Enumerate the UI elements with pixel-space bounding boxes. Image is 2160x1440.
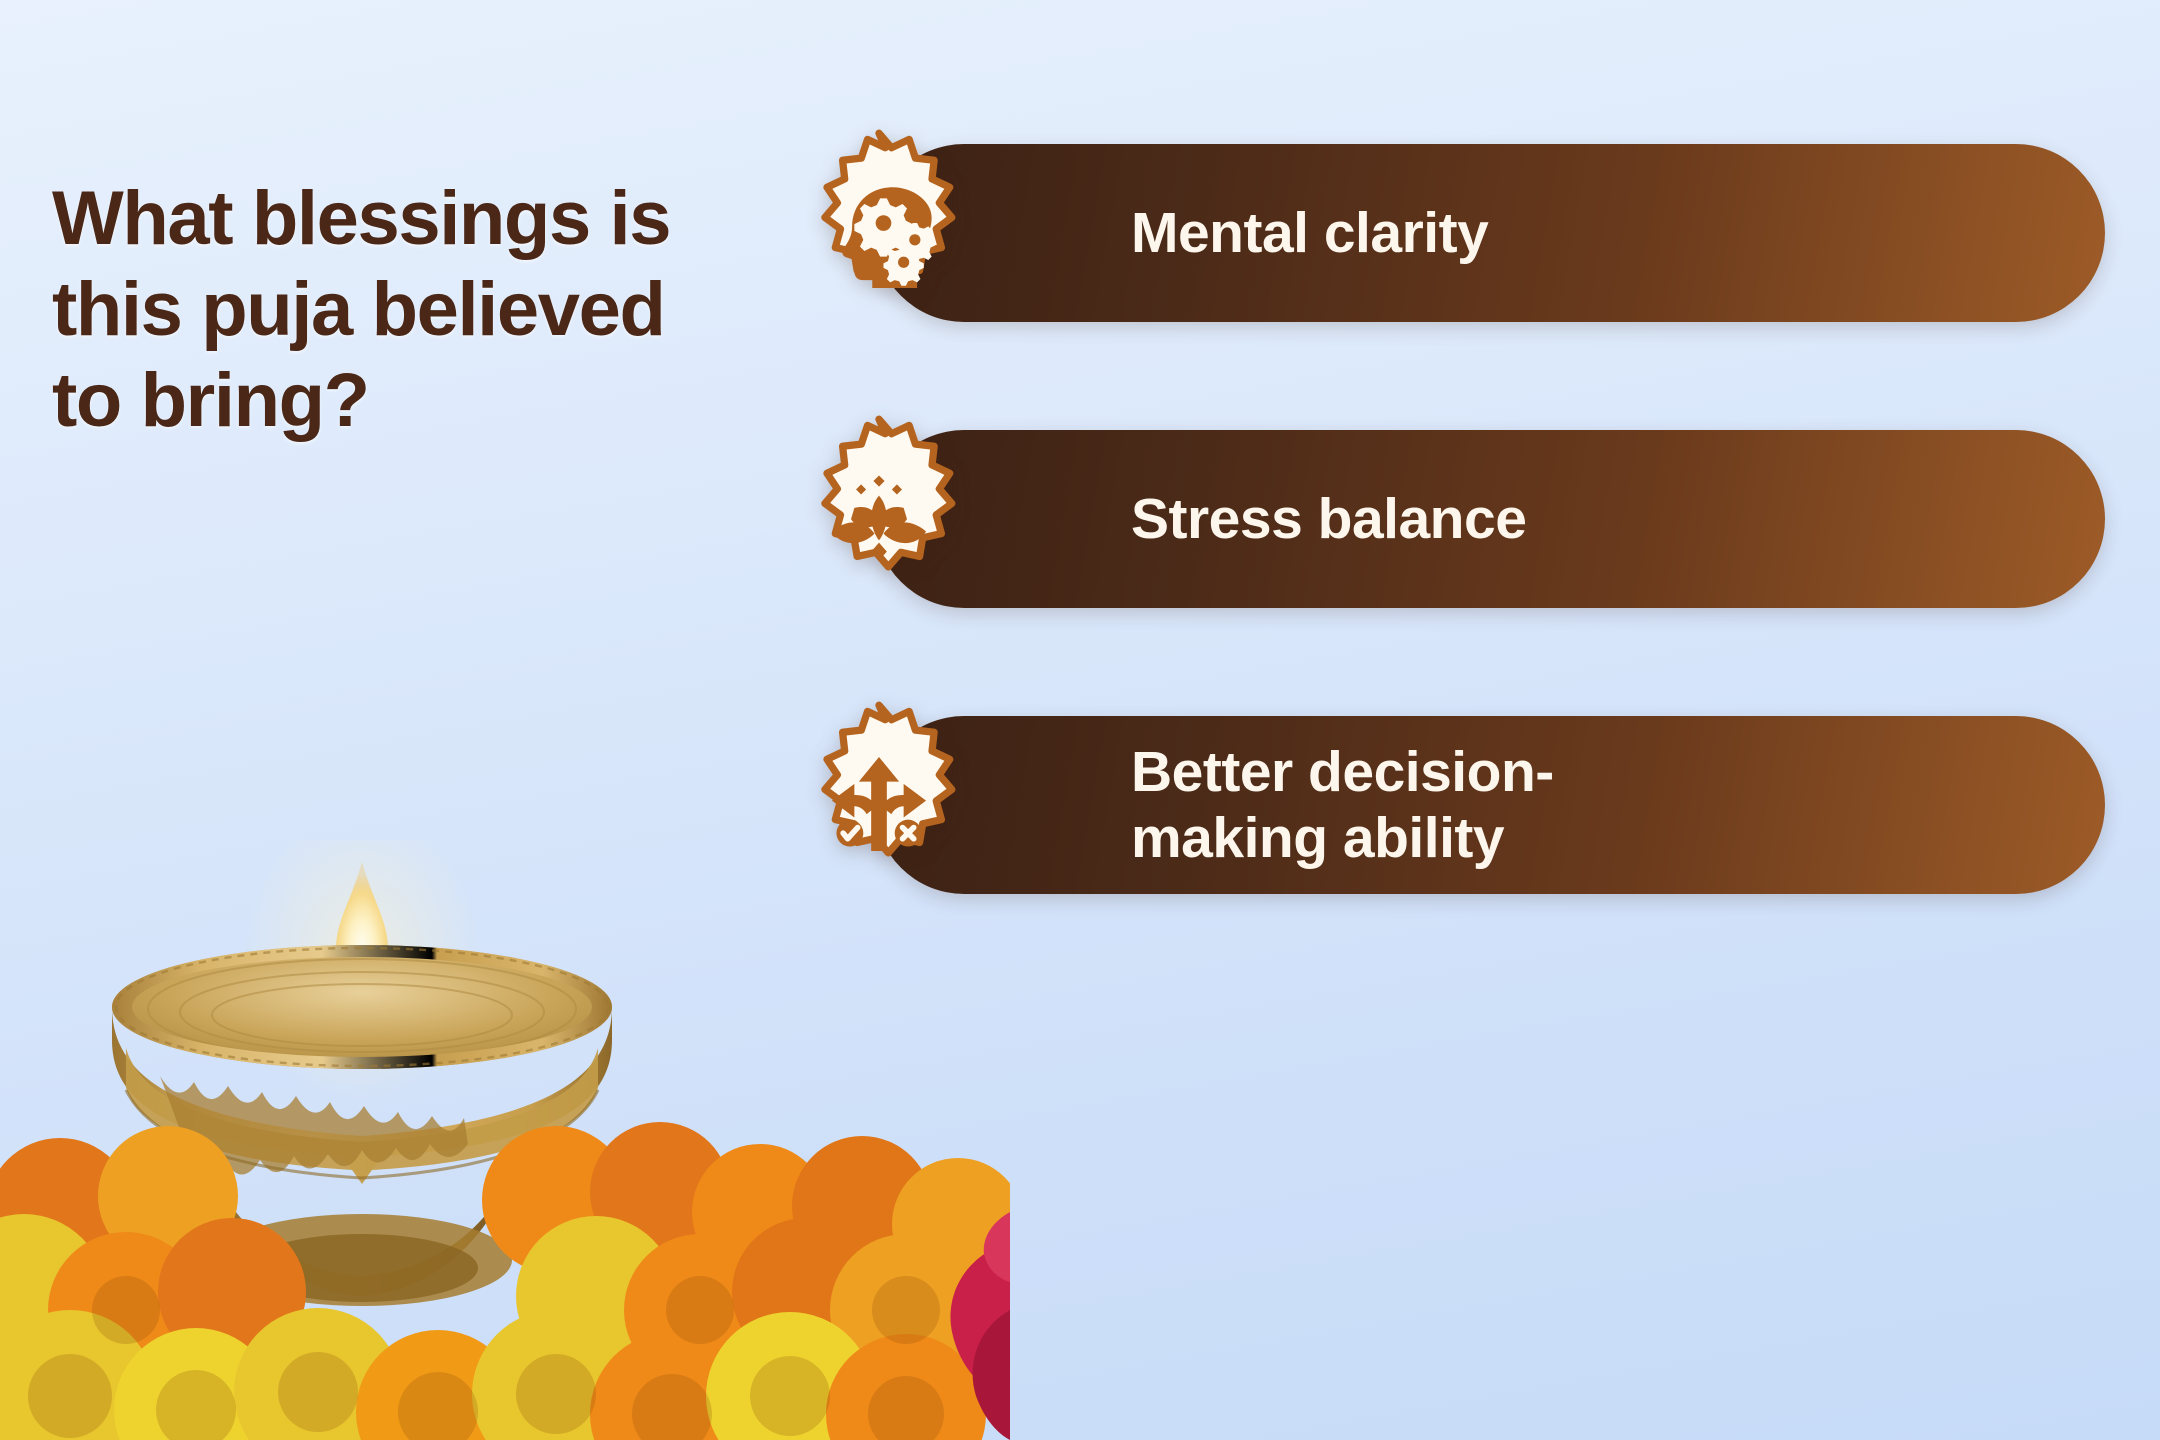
diya-with-marigolds-photo [0,840,1010,1440]
badge-stress-balance [775,414,983,622]
badge-decision-making [775,700,983,908]
list-item[interactable]: Better decision- making ability [775,700,2105,908]
blessing-label: Stress balance [1131,486,1526,552]
headline-line-3: to bring? [52,355,752,446]
badge-mental-clarity [775,128,983,336]
head-gears-icon [823,176,935,288]
blessing-pill[interactable]: Stress balance [875,430,2105,608]
branching-arrows-icon [823,748,935,860]
page-title: What blessings is this puja believed to … [52,173,752,447]
headline-line-1: What blessings is [52,173,752,264]
blessing-pill[interactable]: Better decision- making ability [875,716,2105,894]
blessings-list: Mental clarity [775,128,2105,908]
rose-petals [950,1212,1010,1440]
blessing-label: Mental clarity [1131,200,1488,266]
list-item[interactable]: Stress balance [775,414,2105,622]
blessing-pill[interactable]: Mental clarity [875,144,2105,322]
list-item[interactable]: Mental clarity [775,128,2105,336]
blessing-label: Better decision- making ability [1131,739,1554,871]
headline-line-2: this puja believed [52,264,752,355]
marigolds [0,1122,1010,1440]
infographic-canvas: What blessings is this puja believed to … [0,0,2160,1440]
lotus-icon [823,462,935,574]
